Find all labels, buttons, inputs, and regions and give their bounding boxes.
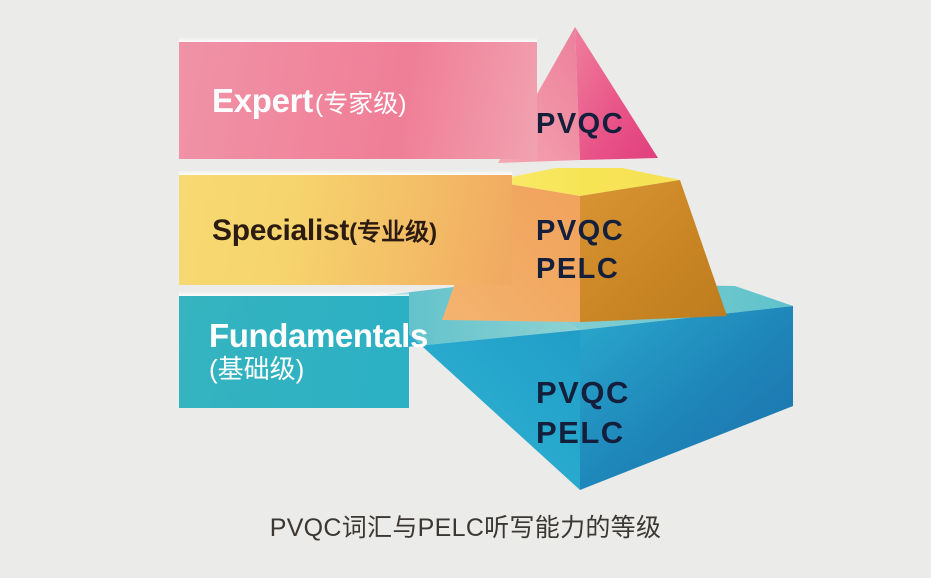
tier-label-specialist: Specialist (专业级): [212, 212, 437, 248]
tier2-front-right-face: [580, 180, 727, 322]
tier2-top-face: [491, 168, 680, 196]
tier2-cert-pelc: PELC: [536, 253, 619, 285]
tier3-cert-pvqc: PVQC: [536, 375, 630, 410]
tier-label-en-fundamentals: Fundamentals: [209, 319, 428, 354]
tier-label-cn-fundamentals: (基础级): [209, 355, 304, 385]
tier-label-cn-expert: (专家级): [315, 84, 407, 120]
tier1-cert-pvqc: PVQC: [536, 108, 624, 140]
tier-banner-specialist: Specialist (专业级): [179, 175, 512, 285]
tier3-front-right-face: [580, 306, 793, 490]
banner-sheen-fundamentals: [179, 291, 409, 296]
tier3-top-face-right: [497, 282, 793, 330]
tier-label-en-specialist: Specialist: [212, 214, 349, 248]
tier-label-cn-specialist: (专业级): [349, 212, 437, 247]
tier-banner-expert: Expert (专家级): [179, 42, 537, 159]
banner-sheen-expert: [179, 37, 537, 42]
tier-label-expert: Expert (专家级): [212, 82, 407, 120]
tier-banner-fundamentals: Fundamentals (基础级): [179, 296, 409, 408]
pyramid-tier-fundamentals: PVQC PELC: [368, 282, 793, 490]
tier-label-en-expert: Expert: [212, 82, 313, 120]
tier3-cert-pelc: PELC: [536, 415, 625, 450]
diagram-caption: PVQC词汇与PELC听写能力的等级: [0, 508, 931, 544]
diagram-canvas: PVQC PELC PVQC PELC PVQC Expert (专家级): [0, 0, 931, 578]
tier1-front-right-face: [575, 27, 658, 160]
banner-sheen-specialist: [179, 170, 512, 175]
tier2-cert-pvqc: PVQC: [536, 215, 624, 247]
